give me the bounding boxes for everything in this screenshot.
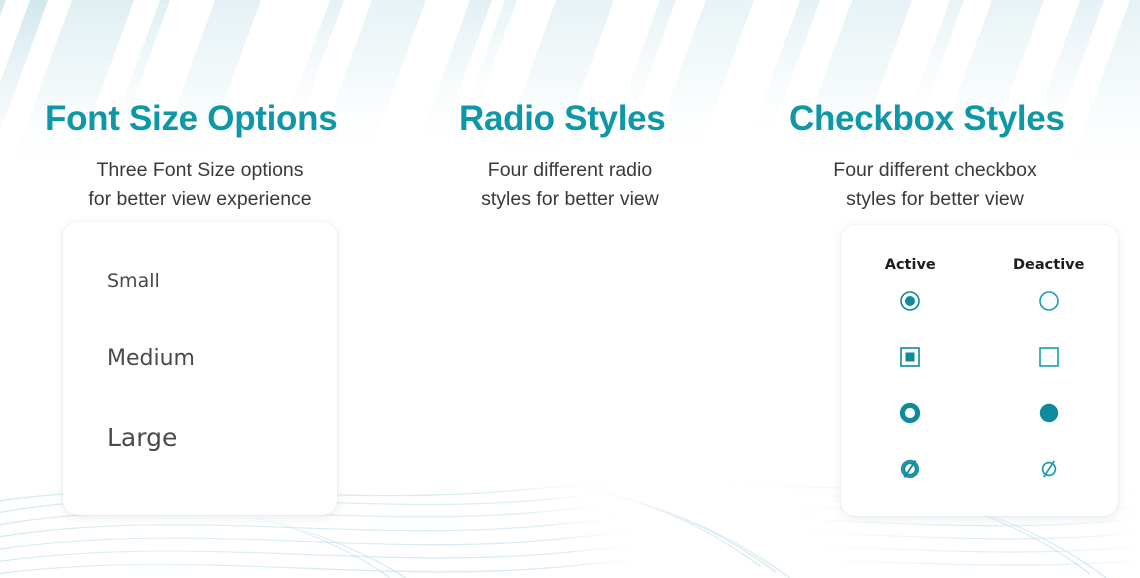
radio-row	[841, 329, 1118, 385]
page-title-checkbox-styles: Checkbox Styles	[789, 101, 1065, 136]
radio-circle-dot-icon[interactable]	[841, 290, 980, 312]
radio-square-filled-icon[interactable]	[841, 346, 980, 368]
font-size-option-medium[interactable]: Medium	[107, 348, 337, 370]
subtitle-checkbox-styles: Four different checkbox styles for bette…	[730, 156, 1140, 214]
radio-row	[841, 273, 1118, 329]
radio-slash-filled-icon[interactable]	[841, 458, 980, 480]
radio-styles-grid: Active Deactive	[841, 225, 1118, 497]
font-size-card: Small Medium Large	[63, 222, 337, 515]
subtitle-font-size: Three Font Size options for better view …	[0, 156, 400, 214]
radio-square-empty-icon[interactable]	[980, 346, 1119, 368]
font-size-list: Small Medium Large	[107, 250, 337, 450]
page-content: Font Size Options Three Font Size option…	[0, 0, 1140, 578]
radio-circle-empty-icon[interactable]	[980, 290, 1119, 312]
radio-row	[841, 441, 1118, 497]
radio-styles-card: Active Deactive	[841, 225, 1118, 516]
radio-circle-solid-icon[interactable]	[980, 402, 1119, 424]
page-title-font-size: Font Size Options	[45, 101, 337, 136]
font-size-option-small[interactable]: Small	[107, 272, 337, 291]
subtitle-radio-styles: Four different radio styles for better v…	[390, 156, 750, 214]
font-size-option-large[interactable]: Large	[107, 425, 337, 450]
page-title-radio-styles: Radio Styles	[459, 101, 665, 136]
radio-header-active: Active	[841, 257, 980, 273]
radio-column-headers: Active Deactive	[841, 225, 1118, 273]
radio-slash-outline-icon[interactable]	[980, 458, 1119, 480]
radio-header-deactive: Deactive	[980, 257, 1119, 273]
radio-donut-icon[interactable]	[841, 402, 980, 424]
radio-row	[841, 385, 1118, 441]
